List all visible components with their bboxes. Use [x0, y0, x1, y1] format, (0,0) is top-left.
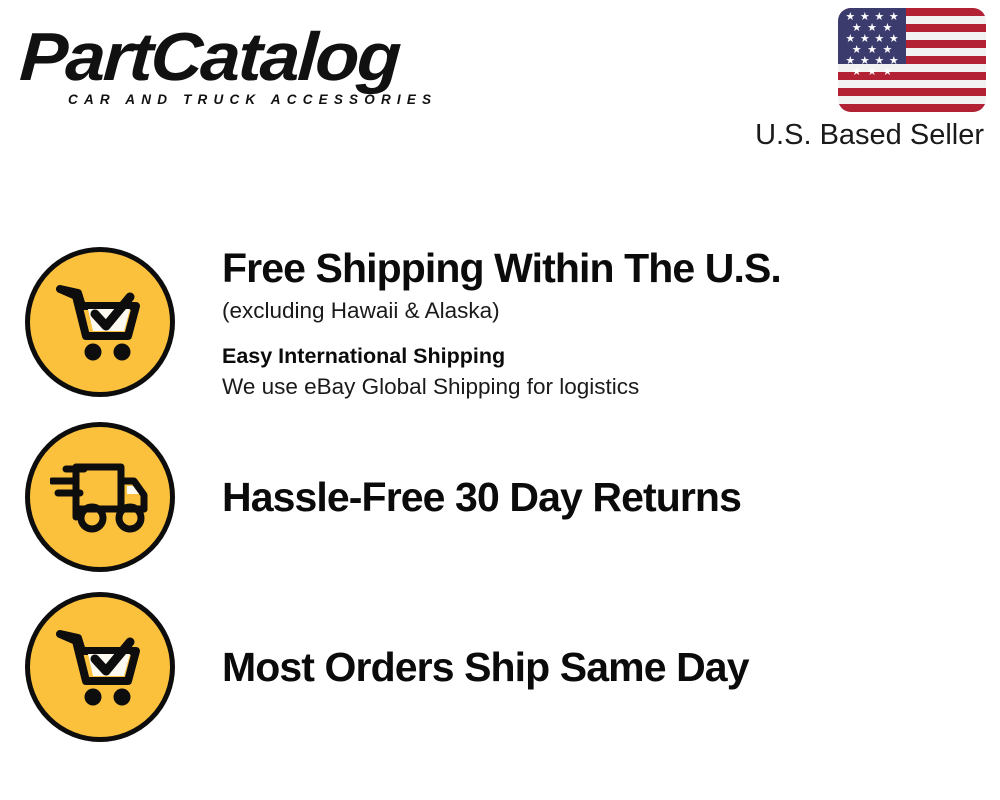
feature-row: Most Orders Ship Same Day [0, 582, 1000, 752]
flag-star-row: ★★★ [843, 67, 901, 78]
feature-note: (excluding Hawaii & Alaska) [222, 295, 980, 327]
feature-text: Most Orders Ship Same Day [200, 642, 1000, 692]
feature-icon-wrap [0, 247, 200, 397]
cart-check-icon [25, 247, 175, 397]
partcatalog-logo: PartCatalog CAR AND TRUCK ACCESSORIES [22, 22, 492, 114]
feature-subnote: We use eBay Global Shipping for logistic… [222, 371, 980, 402]
feature-title: Free Shipping Within The U.S. [222, 243, 980, 293]
feature-title: Most Orders Ship Same Day [222, 642, 980, 692]
feature-text: Hassle-Free 30 Day Returns [200, 472, 1000, 522]
brand-wordmark: PartCatalog [18, 22, 520, 92]
feature-subtitle: Easy International Shipping [222, 341, 980, 371]
feature-icon-wrap [0, 592, 200, 742]
feature-row: Free Shipping Within The U.S. (excluding… [0, 232, 1000, 412]
banner-header: PartCatalog CAR AND TRUCK ACCESSORIES [0, 0, 1000, 170]
delivery-truck-icon [25, 422, 175, 572]
cart-check-icon [25, 592, 175, 742]
feature-row: Hassle-Free 30 Day Returns [0, 412, 1000, 582]
us-flag-icon: ★★★★ ★★★ ★★★★ ★★★ ★★★★ ★★★ [838, 8, 986, 112]
feature-icon-wrap [0, 422, 200, 572]
brand-tagline: CAR AND TRUCK ACCESSORIES [68, 92, 437, 108]
us-based-seller-badge: ★★★★ ★★★ ★★★★ ★★★ ★★★★ ★★★ [716, 8, 986, 152]
promo-banner: PartCatalog CAR AND TRUCK ACCESSORIES [0, 0, 1000, 800]
flag-canton: ★★★★ ★★★ ★★★★ ★★★ ★★★★ ★★★ [838, 8, 906, 64]
us-based-seller-label: U.S. Based Seller [716, 118, 986, 152]
feature-title: Hassle-Free 30 Day Returns [222, 472, 980, 522]
feature-text: Free Shipping Within The U.S. (excluding… [200, 243, 1000, 402]
